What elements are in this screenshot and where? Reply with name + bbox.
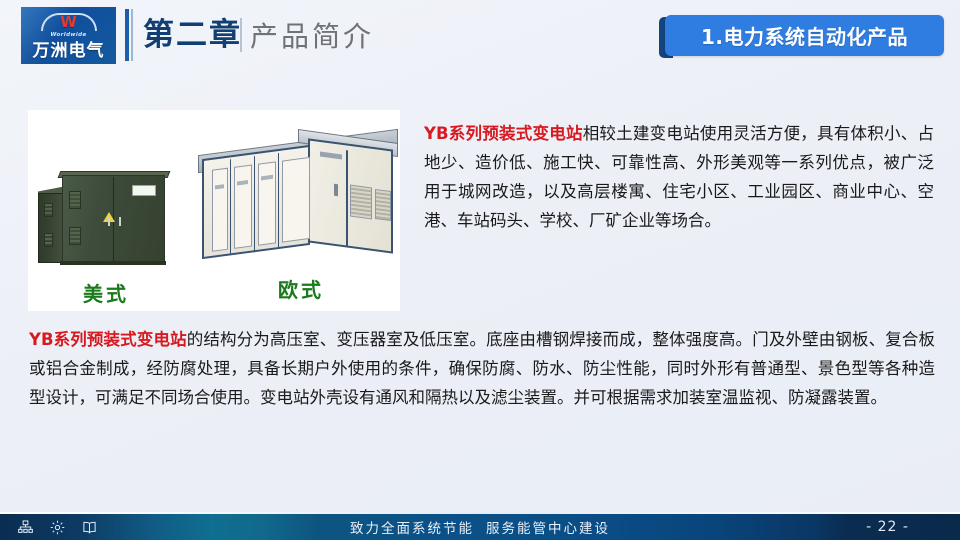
eu-side-door-1 bbox=[212, 168, 228, 252]
us-base-channel bbox=[60, 261, 166, 265]
paragraph-bottom-emphasis: YB系列预装式变电站 bbox=[29, 330, 187, 349]
eu-side-door-2 bbox=[234, 165, 252, 249]
slide-header: W Worldwide 万洲电气 第二章 产品简介 1.电力系统自动化产品 bbox=[0, 0, 960, 82]
footer-slogan-left: 致力全面系统节能 bbox=[350, 517, 474, 537]
paragraph-bottom: YB系列预装式变电站的结构分为高压室、变压器室及低压室。底座由槽钢焊接而成，整体… bbox=[29, 325, 935, 412]
page-subtitle: 产品简介 bbox=[250, 16, 374, 58]
paragraph-right: YB系列预装式变电站相较土建变电站使用灵活方便，具有体积小、占地少、造价低、施工… bbox=[424, 119, 934, 235]
logo-emblem-icon: W bbox=[41, 11, 97, 33]
us-nameplate bbox=[132, 185, 156, 196]
section-banner[interactable]: 1.电力系统自动化产品 bbox=[659, 15, 944, 58]
us-side-vent-upper bbox=[44, 203, 53, 217]
eu-side-door-3 bbox=[258, 161, 276, 245]
eu-ventilation-grille-1 bbox=[350, 185, 372, 220]
title-separator bbox=[240, 18, 242, 52]
product-photo: 美式 欧式 bbox=[28, 110, 400, 311]
us-vent-lower bbox=[69, 227, 81, 245]
header-divider-primary bbox=[125, 9, 129, 61]
header-divider-secondary bbox=[131, 9, 133, 61]
paragraph-right-emphasis: YB系列预装式变电站 bbox=[424, 124, 583, 143]
page-number-badge: - 22 - bbox=[815, 514, 960, 540]
us-vent-upper bbox=[69, 191, 81, 209]
us-door-handle-right bbox=[119, 217, 121, 226]
caption-european-style: 欧式 bbox=[278, 274, 324, 303]
chapter-title: 第二章 bbox=[143, 14, 242, 56]
eu-post-3 bbox=[278, 153, 279, 249]
european-style-substation-illustration bbox=[198, 128, 398, 268]
us-side-vent-lower bbox=[44, 233, 53, 247]
slide-footer: 致力全面系统节能 服务能管中心建设 - 22 - bbox=[0, 514, 960, 540]
logo-w-letter: W bbox=[41, 14, 97, 30]
eu-front-handle bbox=[334, 184, 338, 197]
logo-brand-cn: 万洲电气 bbox=[21, 41, 116, 61]
eu-side-door-4 bbox=[282, 157, 310, 243]
caption-american-style: 美式 bbox=[83, 278, 129, 307]
eu-post-1 bbox=[230, 159, 231, 255]
banner-body[interactable]: 1.电力系统自动化产品 bbox=[665, 15, 944, 56]
footer-slogan-right: 服务能管中心建设 bbox=[486, 517, 610, 537]
banner-label: 1.电力系统自动化产品 bbox=[701, 21, 908, 50]
company-logo[interactable]: W Worldwide 万洲电气 bbox=[21, 7, 116, 64]
eu-front-door bbox=[312, 146, 348, 247]
logo-brand-en: Worldwide bbox=[21, 32, 116, 38]
eu-side-panel bbox=[202, 145, 310, 259]
eu-ventilation-grille-2 bbox=[375, 189, 391, 221]
eu-post-2 bbox=[254, 156, 255, 252]
american-style-substation-illustration bbox=[36, 165, 171, 265]
page-number: - 22 - bbox=[866, 519, 909, 535]
us-door-handle-left bbox=[108, 217, 110, 226]
